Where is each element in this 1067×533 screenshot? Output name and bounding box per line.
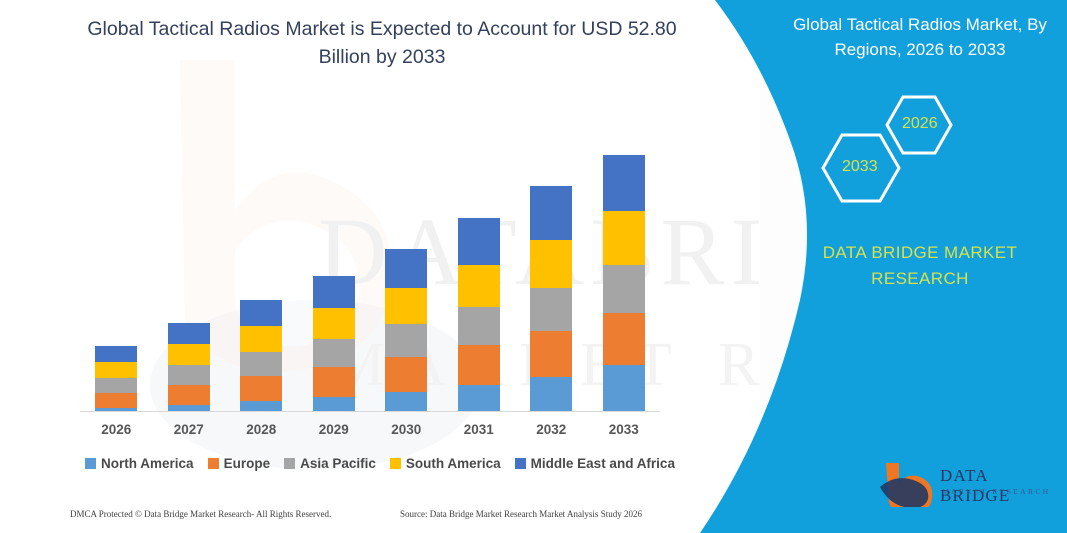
- bar-group: [458, 218, 500, 411]
- bar-group: [240, 300, 282, 411]
- bar-segment: [313, 367, 355, 397]
- bar-stack: [313, 276, 355, 411]
- bar-segment: [530, 288, 572, 331]
- chart-legend: North AmericaEuropeAsia PacificSouth Ame…: [80, 456, 680, 471]
- bar-stack: [458, 218, 500, 411]
- bar-segment: [168, 344, 210, 365]
- bar-segment: [95, 393, 137, 408]
- page-title: Global Tactical Radios Market is Expecte…: [62, 15, 702, 71]
- hexagon-2033-label: 2033: [842, 158, 878, 176]
- bar-segment: [458, 265, 500, 307]
- bar-segment: [240, 352, 282, 376]
- x-axis-tick-label: 2032: [516, 422, 586, 437]
- bar-segment: [313, 308, 355, 339]
- bar-segment: [168, 385, 210, 405]
- legend-item[interactable]: South America: [390, 456, 501, 471]
- chart-panel: DATABRIDGE MARKET RESEARCH Global Tactic…: [0, 0, 760, 533]
- legend-label: Middle East and Africa: [531, 456, 675, 471]
- bar-segment: [240, 401, 282, 411]
- bar-segment: [530, 331, 572, 377]
- bar-segment: [313, 276, 355, 308]
- legend-item[interactable]: Middle East and Africa: [515, 456, 675, 471]
- bar-group: [385, 249, 427, 411]
- bar-stack: [95, 346, 137, 411]
- x-axis-tick-label: 2031: [444, 422, 514, 437]
- x-axis-tick-label: 2033: [589, 422, 659, 437]
- bar-segment: [95, 362, 137, 378]
- bar-segment: [458, 307, 500, 345]
- logo-title: DATA BRIDGE: [940, 466, 1063, 506]
- brand-panel-title: Global Tactical Radios Market, By Region…: [780, 12, 1060, 62]
- legend-item[interactable]: North America: [85, 456, 194, 471]
- hexagon-2026-label: 2026: [902, 115, 938, 133]
- legend-label: North America: [101, 456, 194, 471]
- infographic-root: DATABRIDGE MARKET RESEARCH Global Tactic…: [0, 0, 1067, 533]
- x-axis-tick-label: 2028: [226, 422, 296, 437]
- bar-segment: [530, 240, 572, 288]
- bar-segment: [240, 376, 282, 401]
- legend-label: Asia Pacific: [300, 456, 376, 471]
- x-axis-tick-label: 2030: [371, 422, 441, 437]
- hexagon-group: 2033 2026: [800, 85, 1050, 210]
- bar-segment: [458, 218, 500, 265]
- bar-segment: [603, 365, 645, 411]
- legend-swatch-icon: [85, 458, 96, 469]
- bar-group: [313, 276, 355, 411]
- bar-stack: [603, 155, 645, 411]
- legend-swatch-icon: [208, 458, 219, 469]
- bar-segment: [603, 211, 645, 265]
- brand-panel-content: Global Tactical Radios Market, By Region…: [770, 0, 1067, 533]
- bar-segment: [95, 408, 137, 411]
- bar-segment: [168, 405, 210, 411]
- bar-group: [95, 346, 137, 411]
- bar-segment: [530, 186, 572, 240]
- footer-source: Source: Data Bridge Market Research Mark…: [400, 509, 642, 519]
- legend-item[interactable]: Europe: [208, 456, 271, 471]
- logo-mark-icon: [878, 461, 938, 507]
- bar-segment: [240, 300, 282, 326]
- bar-segment: [603, 313, 645, 365]
- bar-segment: [385, 357, 427, 392]
- bar-segment: [603, 155, 645, 211]
- legend-swatch-icon: [515, 458, 526, 469]
- footer-copyright: DMCA Protected © Data Bridge Market Rese…: [70, 509, 331, 519]
- bar-group: [603, 155, 645, 411]
- bar-segment: [458, 345, 500, 385]
- bar-stack: [385, 249, 427, 411]
- bar-segment: [603, 265, 645, 313]
- legend-label: South America: [406, 456, 501, 471]
- bar-segment: [458, 385, 500, 411]
- bar-segment: [385, 249, 427, 288]
- bar-segment: [168, 323, 210, 344]
- bar-segment: [313, 339, 355, 367]
- bar-segment: [95, 378, 137, 393]
- bar-segment: [530, 377, 572, 411]
- x-axis-line: [80, 411, 660, 412]
- bar-stack: [168, 323, 210, 411]
- bar-segment: [385, 324, 427, 357]
- company-logo: DATA BRIDGE MARKET RESEARCH: [878, 458, 1063, 510]
- x-axis-tick-label: 2026: [81, 422, 151, 437]
- brand-name: DATA BRIDGE MARKET RESEARCH: [780, 240, 1060, 292]
- legend-swatch-icon: [284, 458, 295, 469]
- bar-segment: [313, 397, 355, 411]
- x-axis-tick-label: 2027: [154, 422, 224, 437]
- bar-stack: [530, 186, 572, 411]
- bar-segment: [168, 365, 210, 385]
- legend-swatch-icon: [390, 458, 401, 469]
- legend-label: Europe: [224, 456, 271, 471]
- bar-segment: [95, 346, 137, 362]
- logo-subtitle: MARKET RESEARCH: [942, 487, 1051, 496]
- bar-stack: [240, 300, 282, 411]
- bar-segment: [240, 326, 282, 352]
- bar-group: [168, 323, 210, 411]
- x-axis-tick-label: 2029: [299, 422, 369, 437]
- bar-group: [530, 186, 572, 411]
- bar-segment: [385, 288, 427, 324]
- bar-segment: [385, 392, 427, 411]
- legend-item[interactable]: Asia Pacific: [284, 456, 376, 471]
